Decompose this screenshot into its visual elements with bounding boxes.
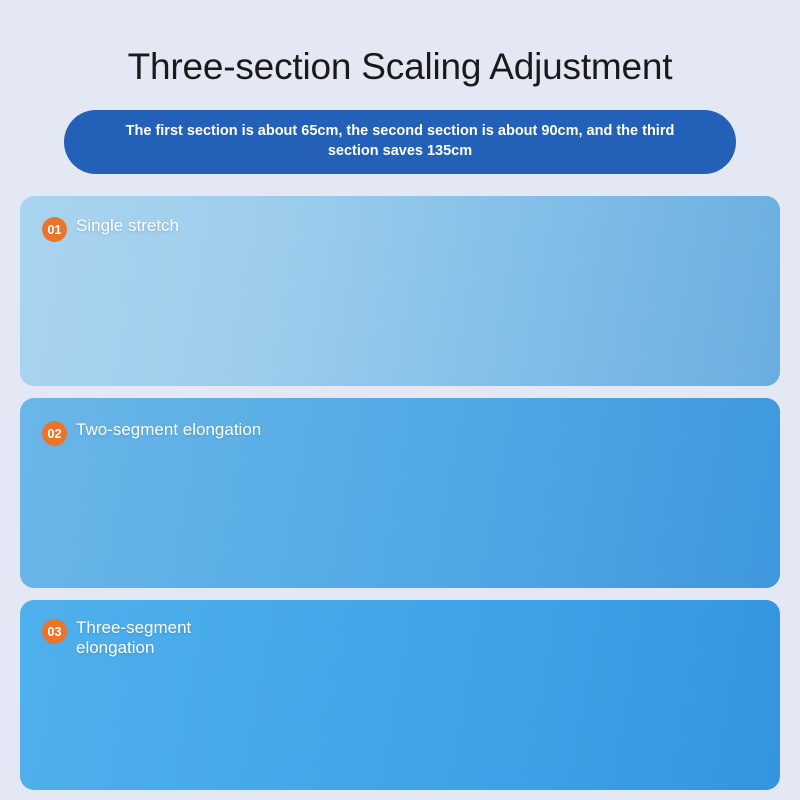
panel-3-label: Three-segment elongation <box>76 618 191 658</box>
banner-wrapper: The first section is about 65cm, the sec… <box>0 110 800 174</box>
panel-1-label: Single stretch <box>76 216 179 236</box>
panel-3-badge: 03 <box>42 619 67 644</box>
panel-2-label: Two-segment elongation <box>76 420 261 440</box>
panel-1-badge: 01 <box>42 217 67 242</box>
panel-three-segment: 03 Three-segment elongation <box>20 600 780 790</box>
spec-banner: The first section is about 65cm, the sec… <box>64 110 736 174</box>
panel-1-header: 01 Single stretch <box>42 216 179 242</box>
panel-single-stretch: 01 Single stretch <box>20 196 780 386</box>
infographic-page: Three-section Scaling Adjustment The fir… <box>0 0 800 800</box>
panel-2-badge: 02 <box>42 421 67 446</box>
panel-two-segment: 02 Two-segment elongation <box>20 398 780 588</box>
panel-3-header: 03 Three-segment elongation <box>42 618 191 658</box>
page-title: Three-section Scaling Adjustment <box>0 0 800 88</box>
panel-2-header: 02 Two-segment elongation <box>42 420 261 446</box>
